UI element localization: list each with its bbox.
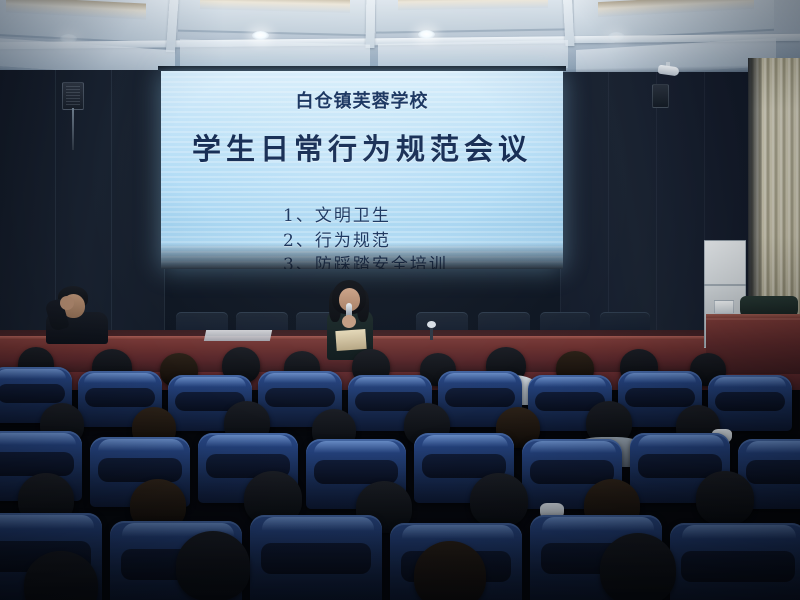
wall-speaker-right bbox=[652, 84, 669, 108]
projection-screen: 白仓镇芙蓉学校 学生日常行为规范会议 1、文明卫生 2、行为规范 3、防踩踏安全… bbox=[161, 71, 563, 269]
screen-lower-shadow bbox=[161, 243, 563, 269]
table-microphone-head bbox=[427, 321, 436, 328]
official-hand bbox=[60, 296, 74, 310]
auditorium-photo: 白仓镇芙蓉学校 学生日常行为规范会议 1、文明卫生 2、行为规范 3、防踩踏安全… bbox=[0, 0, 800, 600]
audience-head bbox=[600, 533, 676, 600]
audience-area bbox=[0, 345, 800, 600]
speaker-mount bbox=[72, 108, 74, 150]
slide-title: 学生日常行为规范会议 bbox=[161, 126, 563, 168]
audience-head bbox=[696, 471, 754, 525]
presenter-hand bbox=[342, 315, 356, 328]
wall-speaker bbox=[62, 82, 84, 110]
slide-school-name: 白仓镇芙蓉学校 bbox=[161, 87, 563, 113]
cabinet-vent bbox=[714, 300, 734, 314]
audience-head bbox=[176, 531, 250, 600]
slide-agenda-item-1: 1、文明卫生 bbox=[283, 204, 543, 229]
audience-head bbox=[414, 541, 486, 600]
audience-head bbox=[470, 473, 528, 527]
table-microphone-stand bbox=[430, 326, 433, 340]
cabinet-seam bbox=[704, 284, 746, 286]
documents-on-table bbox=[204, 330, 272, 341]
